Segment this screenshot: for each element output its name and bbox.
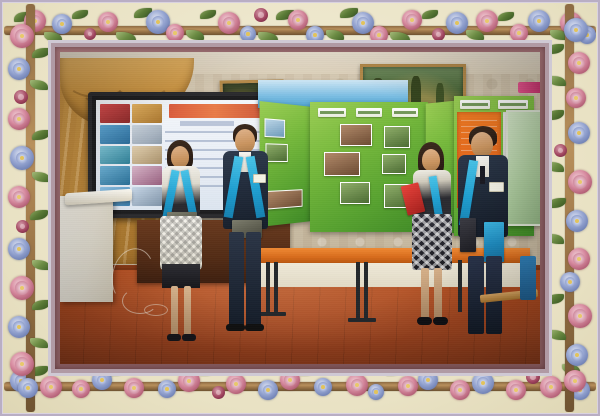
- classroom-photograph: [60, 52, 540, 364]
- framed-photo-canvas: [0, 0, 600, 416]
- photo-grain: [60, 52, 540, 364]
